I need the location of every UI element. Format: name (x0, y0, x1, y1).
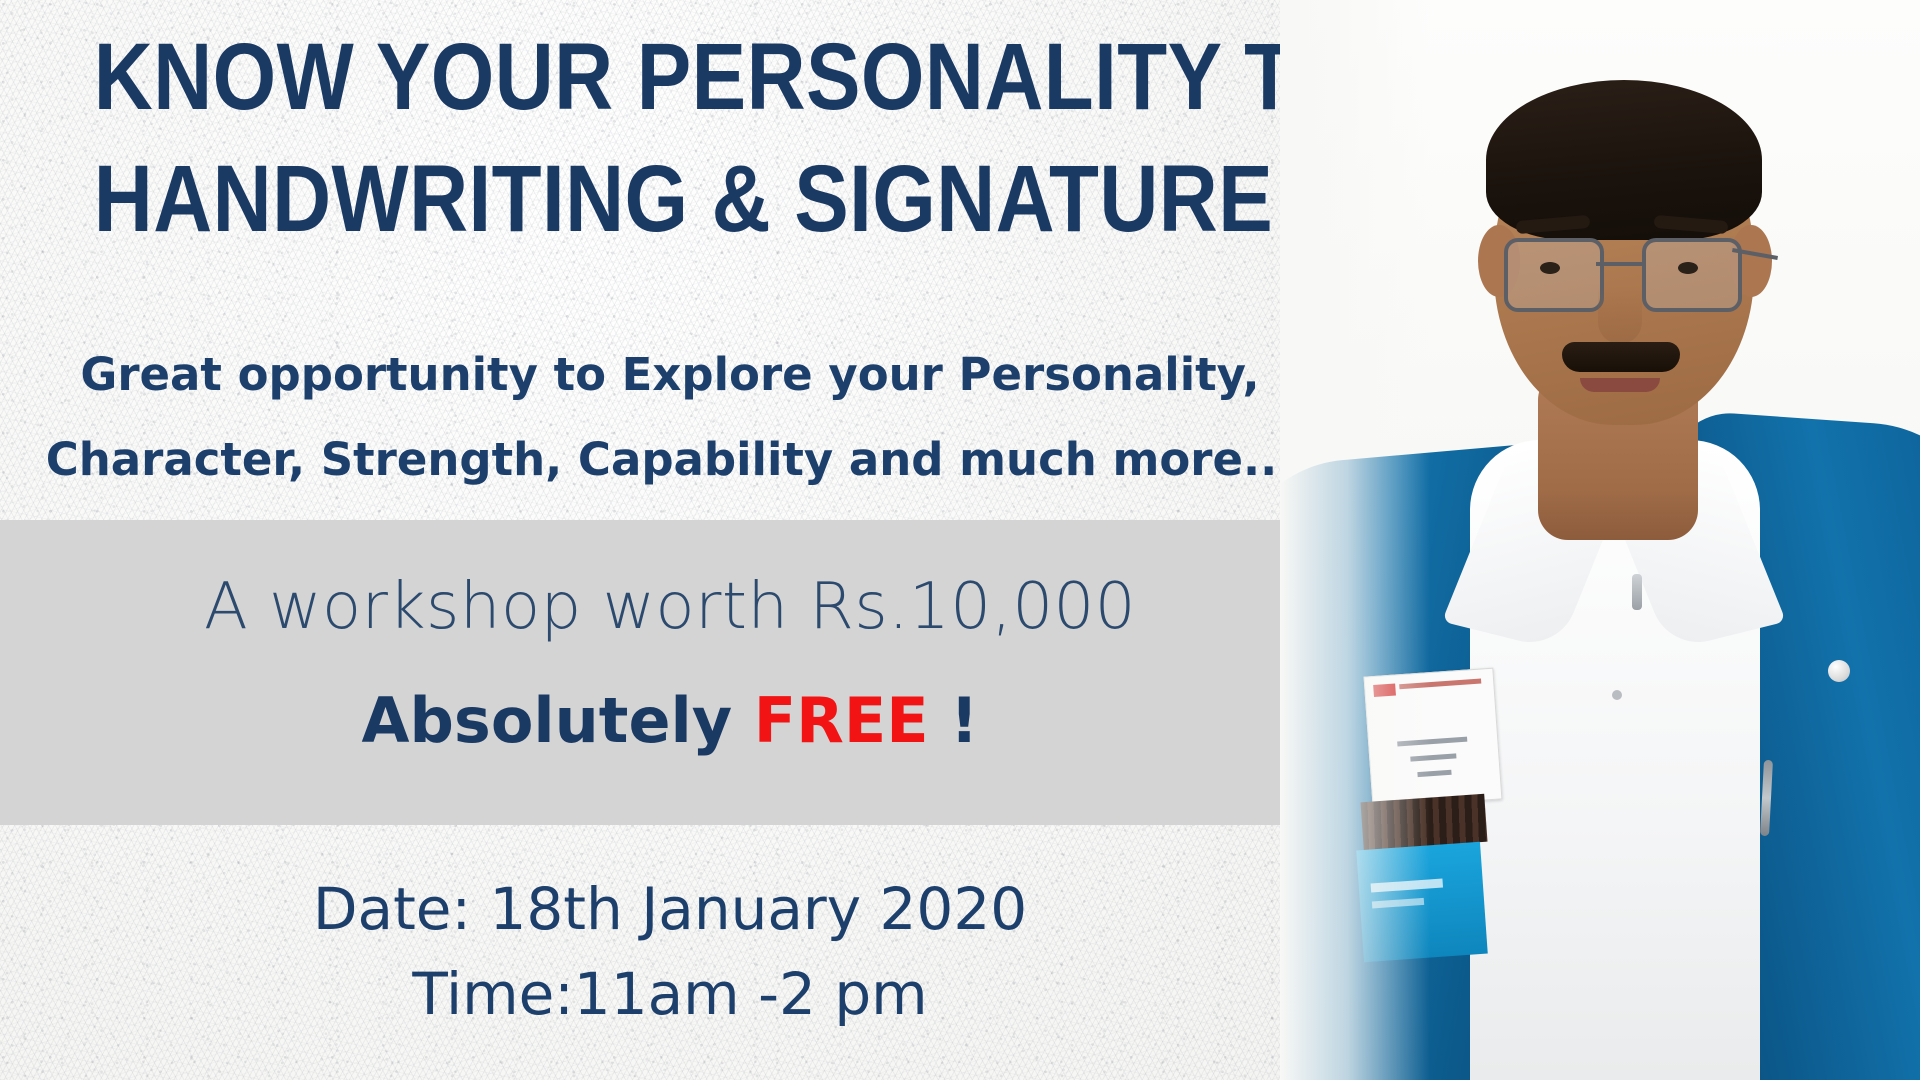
event-time-text: Time:11am -2 pm (0, 965, 1340, 1023)
lapel-pin (1828, 660, 1850, 682)
eyeglasses-lens-right (1642, 238, 1742, 312)
eyeglasses-bridge (1596, 262, 1642, 266)
headline-line-1: KNOW YOUR PERSONALITY THROUGH (94, 30, 1246, 125)
mouth (1580, 378, 1660, 392)
subtitle-line-2: Character, Strength, Capability and much… (0, 437, 1340, 482)
hair (1486, 80, 1762, 240)
eye-left (1540, 262, 1560, 274)
subtitle-line-1: Great opportunity to Explore your Person… (0, 352, 1340, 397)
photo-edge-feather (1280, 0, 1430, 1080)
moustache (1562, 342, 1680, 372)
banner-text-content: KNOW YOUR PERSONALITY THROUGH HANDWRITIN… (0, 0, 1340, 1080)
neck-chain-pendant (1632, 574, 1642, 610)
event-date-text: Date: 18th January 2020 (0, 880, 1340, 938)
headline-line-2: HANDWRITING & SIGNATURE ! (94, 152, 1246, 247)
shirt-button (1612, 690, 1622, 700)
free-offer-suffix: ! (929, 684, 979, 757)
promotional-banner: KNOW YOUR PERSONALITY THROUGH HANDWRITIN… (0, 0, 1920, 1080)
free-offer-prefix: Absolutely (362, 684, 754, 757)
workshop-value-text: A workshop worth Rs.10,000 (0, 575, 1340, 639)
eye-right (1678, 262, 1698, 274)
free-offer-keyword: FREE (754, 684, 929, 757)
nose (1598, 286, 1642, 344)
speaker-photograph (1280, 0, 1920, 1080)
free-offer-line: Absolutely FREE ! (0, 690, 1340, 752)
eyeglasses-lens-left (1504, 238, 1604, 312)
